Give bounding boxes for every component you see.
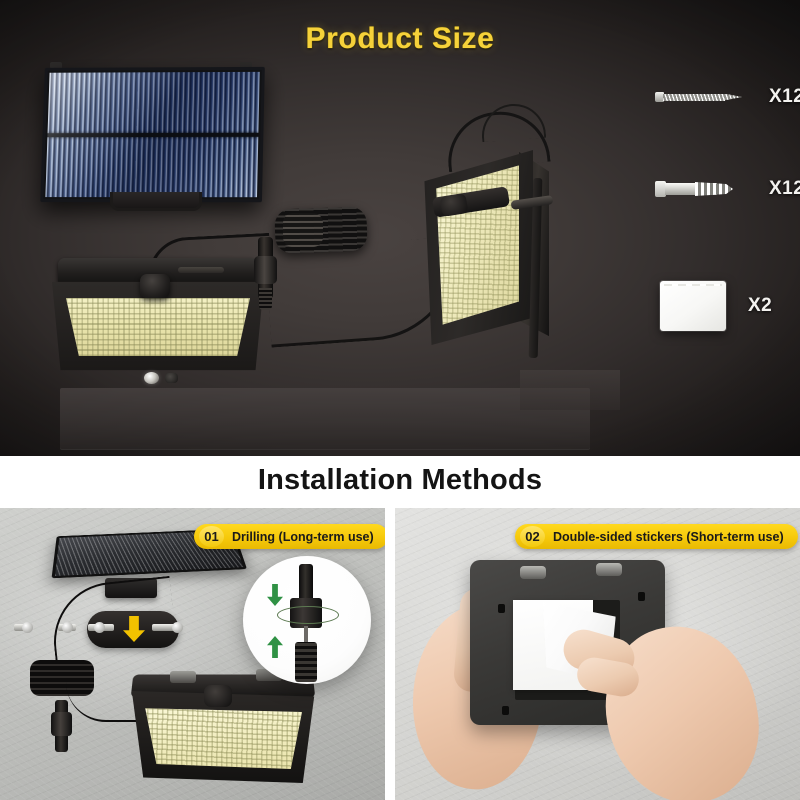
bracket-hole-top-left	[498, 604, 505, 613]
wall-anchor-icon	[655, 181, 747, 197]
accessory-qty-screw: X12	[769, 86, 800, 108]
solar-panel-glare	[45, 72, 259, 197]
product-size-section: Product Size	[0, 0, 800, 456]
accessory-item-screw: X12	[655, 86, 800, 108]
method-label-01: Drilling (Long-term use)	[232, 530, 374, 544]
led-flood-lamp-angled	[415, 150, 575, 345]
product-platform-back	[520, 370, 620, 410]
accessory-item-adhesive-pad: X2	[660, 281, 772, 331]
screw-head-wall-b	[22, 622, 33, 633]
photo-connector-collar	[51, 712, 72, 736]
lamp-power-button	[165, 373, 178, 383]
cable-coil-inner	[283, 213, 323, 247]
page-title-product-size: Product Size	[0, 22, 800, 56]
accessory-qty-adhesive-pad: X2	[748, 295, 772, 317]
photo-lamp-cable-gland	[204, 685, 232, 707]
motion-sensor-icon	[144, 372, 159, 384]
product-platform	[60, 388, 590, 450]
lamp-vent	[178, 267, 224, 273]
photo-lamp-led-array	[142, 707, 302, 769]
method-number-02: 02	[520, 526, 545, 547]
installation-photo-stickers: 02 Double-sided stickers (Short-term use…	[395, 508, 800, 800]
lamp-led-array	[66, 298, 250, 356]
method-badge-02: 02 Double-sided stickers (Short-term use…	[515, 524, 798, 549]
adhesive-pad-icon	[660, 281, 726, 331]
accessory-item-wall-anchor: X12	[655, 178, 800, 200]
lamp-cable-gland-angled	[440, 193, 469, 217]
arrow-down-icon	[267, 584, 283, 606]
method-badge-01: 01 Drilling (Long-term use)	[194, 524, 385, 549]
page-title-installation-methods: Installation Methods	[0, 464, 800, 497]
installation-photos: 01 Drilling (Long-term use)	[0, 508, 800, 800]
bracket-slot-right	[596, 563, 622, 576]
method-number-01: 01	[199, 526, 224, 547]
rotate-indicator-icon	[277, 606, 339, 624]
led-flood-lamp-front	[52, 258, 264, 386]
connector-thread	[259, 288, 272, 310]
photo-led-lamp	[128, 673, 318, 783]
bracket-hole-top-right	[638, 592, 645, 601]
connector-collar	[254, 256, 277, 284]
lamp-cable-gland	[140, 274, 170, 298]
bracket-slot-left	[520, 566, 546, 579]
arrow-up-icon	[267, 636, 283, 658]
screw-icon	[655, 91, 747, 103]
inset-connector-female	[295, 642, 317, 682]
bracket-hole-bottom-left	[502, 706, 509, 715]
photo-lamp-tab-left	[170, 671, 196, 683]
method-label-02: Double-sided stickers (Short-term use)	[553, 530, 784, 544]
product-infographic: Product Size	[0, 0, 800, 800]
accessory-qty-wall-anchor: X12	[769, 178, 800, 200]
solar-panel-bracket	[110, 192, 202, 211]
connector-detail-inset	[243, 556, 371, 684]
